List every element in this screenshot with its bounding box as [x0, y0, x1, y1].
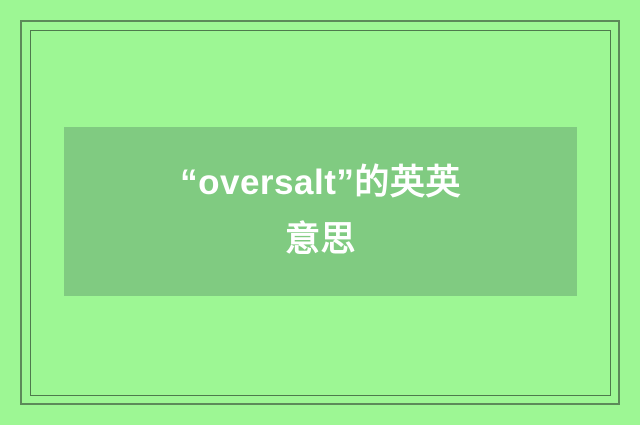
title-banner: “oversalt”的英英意思	[64, 127, 577, 296]
poster-canvas: “oversalt”的英英意思	[0, 0, 640, 425]
page-title: “oversalt”的英英意思	[174, 155, 467, 268]
